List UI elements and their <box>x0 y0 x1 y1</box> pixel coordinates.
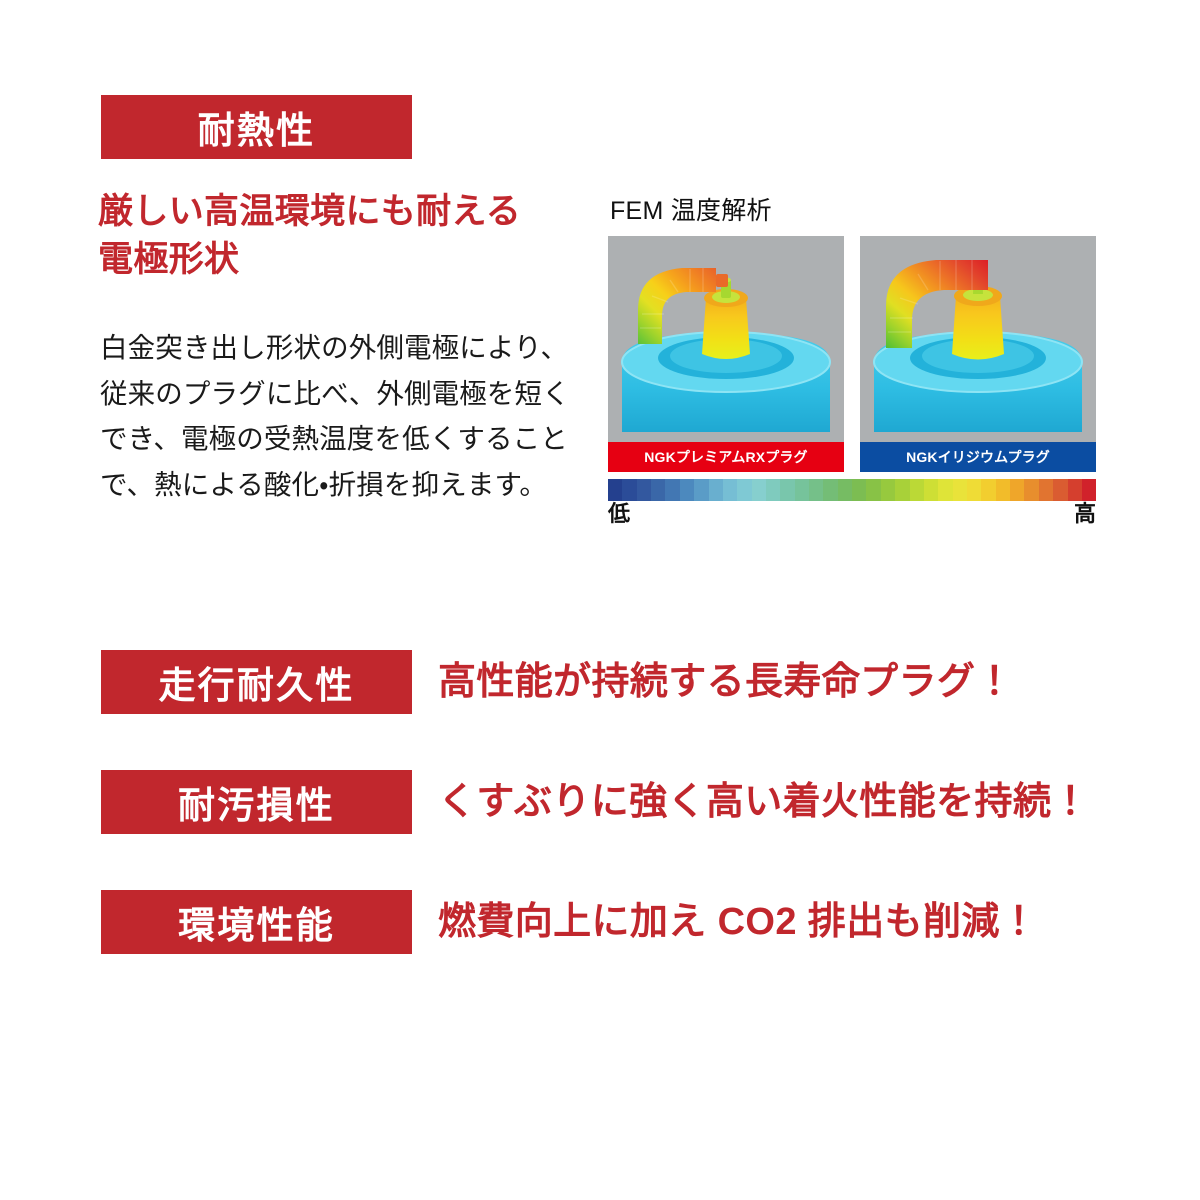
feature-badge-fouling-resistance-label: 耐汚損性 <box>178 775 335 829</box>
feature-badge-durability: 走行耐久性 <box>101 650 412 714</box>
temperature-scale-band-32 <box>1068 479 1082 501</box>
temperature-scale-band-8 <box>723 479 737 501</box>
temperature-scale-band-9 <box>737 479 751 501</box>
fem-panel-iridium: NGKイリジウムプラグ <box>860 236 1096 472</box>
feature-row-fouling-resistance: 耐汚損性 くすぶりに強く高い着火性能を持続！ <box>101 770 1021 834</box>
temperature-scale-band-6 <box>694 479 708 501</box>
temperature-scale-band-31 <box>1053 479 1067 501</box>
temperature-scale-band-28 <box>1010 479 1024 501</box>
feature-row-environmental: 環境性能 燃費向上に加え CO2 排出も削減！ <box>101 890 1021 954</box>
feature-text-durability: 高性能が持続する長寿命プラグ！ <box>438 663 1014 701</box>
feature-badge-environmental: 環境性能 <box>101 890 412 954</box>
description-line-1: 白金突き出し形状の外側電極により、 <box>100 325 592 371</box>
fem-analysis-title: FEM 温度解析 <box>610 196 1096 226</box>
feature-text-fouling-resistance: くすぶりに強く高い着火性能を持続！ <box>438 783 1090 821</box>
fem-render-premium-rx <box>608 236 844 472</box>
temperature-scale-band-12 <box>780 479 794 501</box>
scale-low-label: 低 <box>608 502 630 526</box>
fem-caption-premium-rx-label: NGKプレミアムRXプラグ <box>644 447 807 467</box>
fem-caption-iridium: NGKイリジウムプラグ <box>860 442 1096 472</box>
temperature-scale-band-15 <box>823 479 837 501</box>
feature-badge-environmental-label: 環境性能 <box>178 895 335 949</box>
temperature-scale-band-23 <box>938 479 952 501</box>
spark-plug-thermal-render-icon <box>860 236 1096 472</box>
spark-plug-thermal-render-icon <box>608 236 844 472</box>
temperature-scale-band-21 <box>910 479 924 501</box>
feature-badge-durability-label: 走行耐久性 <box>158 655 354 709</box>
temperature-scale-band-24 <box>953 479 967 501</box>
temperature-scale-band-27 <box>996 479 1010 501</box>
temperature-scale-band-5 <box>680 479 694 501</box>
description-line-2: 従来のプラグに比べ、外側電極を短く <box>100 371 592 417</box>
heat-resistance-headline: 厳しい高温環境にも耐える 電極形状 <box>98 188 578 285</box>
heat-resistance-badge: 耐熱性 <box>101 95 412 159</box>
headline-line-2: 電極形状 <box>98 236 578 284</box>
temperature-scale-band-17 <box>852 479 866 501</box>
temperature-scale-band-25 <box>967 479 981 501</box>
scale-high-label: 高 <box>1074 502 1096 526</box>
temperature-scale-band-0 <box>608 479 622 501</box>
temperature-scale-band-3 <box>651 479 665 501</box>
temperature-scale-band-29 <box>1024 479 1038 501</box>
temperature-scale-band-20 <box>895 479 909 501</box>
temperature-scale-band-10 <box>752 479 766 501</box>
temperature-scale-labels: 低 高 <box>608 502 1096 526</box>
temperature-scale-band-33 <box>1082 479 1096 501</box>
heat-resistance-description: 白金突き出し形状の外側電極により、 従来のプラグに比べ、外側電極を短く でき、電… <box>100 325 592 508</box>
fem-panel-group: NGKプレミアムRXプラグ <box>608 236 1096 472</box>
temperature-scale-band-7 <box>709 479 723 501</box>
feature-text-environmental: 燃費向上に加え CO2 排出も削減！ <box>438 903 1038 941</box>
fem-caption-iridium-label: NGKイリジウムプラグ <box>906 447 1050 467</box>
description-line-3: でき、電極の受熱温度を低くすること <box>100 416 592 462</box>
temperature-scale-band-19 <box>881 479 895 501</box>
temperature-color-scale <box>608 479 1096 501</box>
fem-render-iridium <box>860 236 1096 472</box>
headline-line-1: 厳しい高温環境にも耐える <box>98 188 578 236</box>
description-line-4: で、熱による酸化・折損を抑えます。 <box>100 462 592 508</box>
temperature-scale-band-2 <box>637 479 651 501</box>
temperature-scale-band-14 <box>809 479 823 501</box>
feature-badge-fouling-resistance: 耐汚損性 <box>101 770 412 834</box>
temperature-scale-band-30 <box>1039 479 1053 501</box>
temperature-scale-band-13 <box>795 479 809 501</box>
heat-resistance-badge-label: 耐熱性 <box>198 100 316 154</box>
temperature-scale-band-1 <box>622 479 636 501</box>
temperature-scale-band-16 <box>838 479 852 501</box>
feature-row-durability: 走行耐久性 高性能が持続する長寿命プラグ！ <box>101 650 1021 714</box>
temperature-scale-band-11 <box>766 479 780 501</box>
temperature-scale-band-26 <box>981 479 995 501</box>
fem-caption-premium-rx: NGKプレミアムRXプラグ <box>608 442 844 472</box>
fem-panel-premium-rx: NGKプレミアムRXプラグ <box>608 236 844 472</box>
temperature-scale-band-22 <box>924 479 938 501</box>
temperature-scale-band-4 <box>665 479 679 501</box>
fem-analysis-figure: FEM 温度解析 <box>608 196 1096 526</box>
temperature-scale-band-18 <box>866 479 880 501</box>
